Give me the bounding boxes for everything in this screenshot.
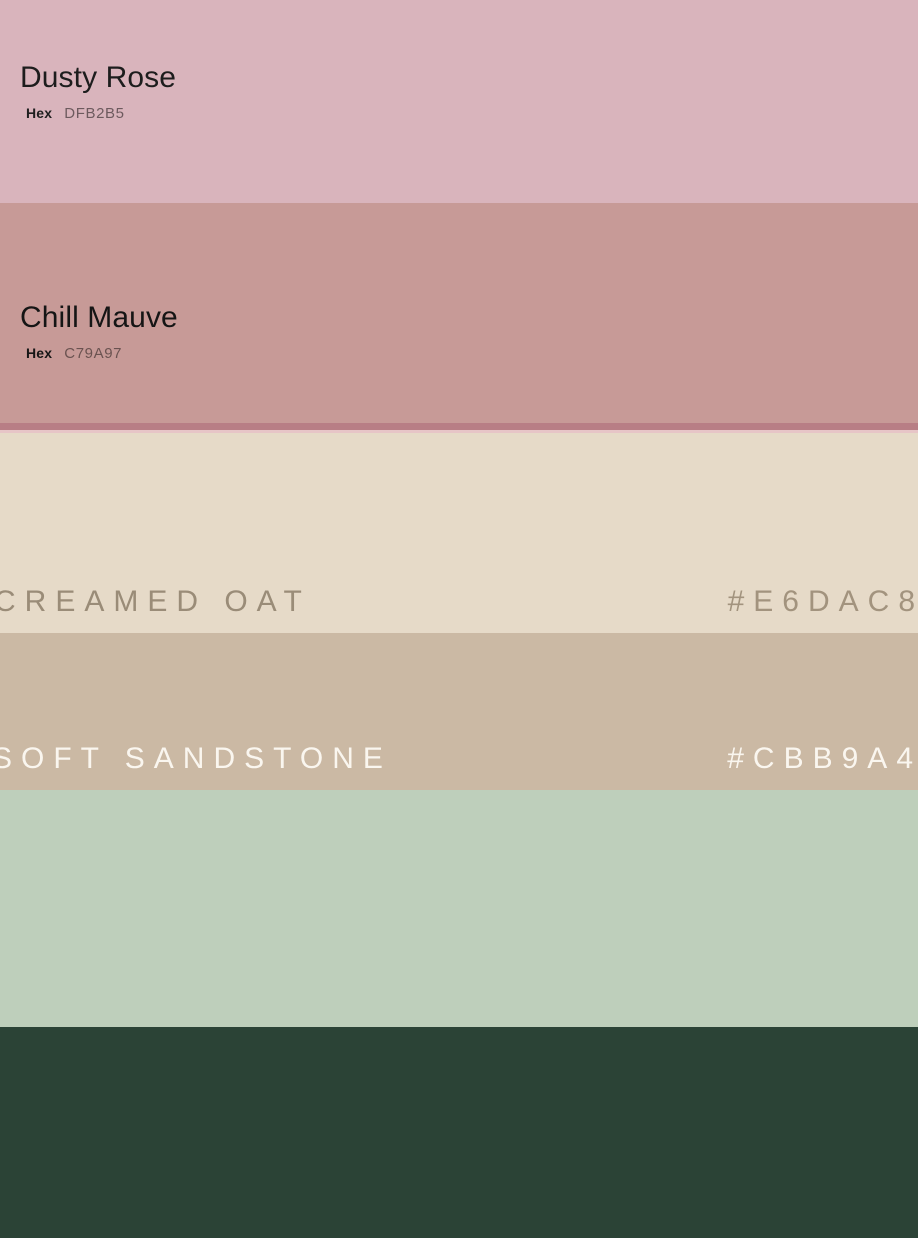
color-palette-page: Dusty Rose Hex DFB2B5 Chill Mauve Hex C7… xyxy=(0,0,918,1238)
hex-label-chill-mauve: Hex xyxy=(26,345,52,361)
hex-row-chill-mauve: Hex C79A97 xyxy=(26,345,122,362)
color-swatch-soft-sandstone[interactable]: SOFT SANDSTONE #CBB9A4 xyxy=(0,633,918,790)
color-swatch-dusty-rose[interactable]: Dusty Rose Hex DFB2B5 xyxy=(0,0,918,203)
hex-value-chill-mauve[interactable]: C79A97 xyxy=(64,345,122,362)
color-swatch-chill-mauve[interactable]: Chill Mauve Hex C79A97 xyxy=(0,203,918,423)
color-swatch-creamed-oat[interactable]: CREAMED OAT #E6DAC8 xyxy=(0,433,918,633)
hex-label-dusty-rose: Hex xyxy=(26,105,52,121)
swatch-name-chill-mauve: Chill Mauve xyxy=(20,301,178,335)
color-swatch-resting-green[interactable]: Resting green HEX 2B4336 xyxy=(0,1027,918,1238)
swatch-name-dusty-rose: Dusty Rose xyxy=(20,61,176,95)
hex-value-creamed-oat[interactable]: #E6DAC8 xyxy=(728,585,918,619)
hex-row-dusty-rose: Hex DFB2B5 xyxy=(26,105,125,122)
swatch-name-creamed-oat: CREAMED OAT xyxy=(0,585,311,619)
hex-value-soft-sandstone[interactable]: #CBB9A4 xyxy=(727,742,918,776)
divider-strip-rose xyxy=(0,423,918,430)
swatch-name-soft-sandstone: SOFT SANDSTONE xyxy=(0,742,392,776)
hex-value-dusty-rose[interactable]: DFB2B5 xyxy=(64,105,124,122)
color-swatch-ever-green[interactable]: Ever green HEX BECFBB xyxy=(0,790,918,1027)
